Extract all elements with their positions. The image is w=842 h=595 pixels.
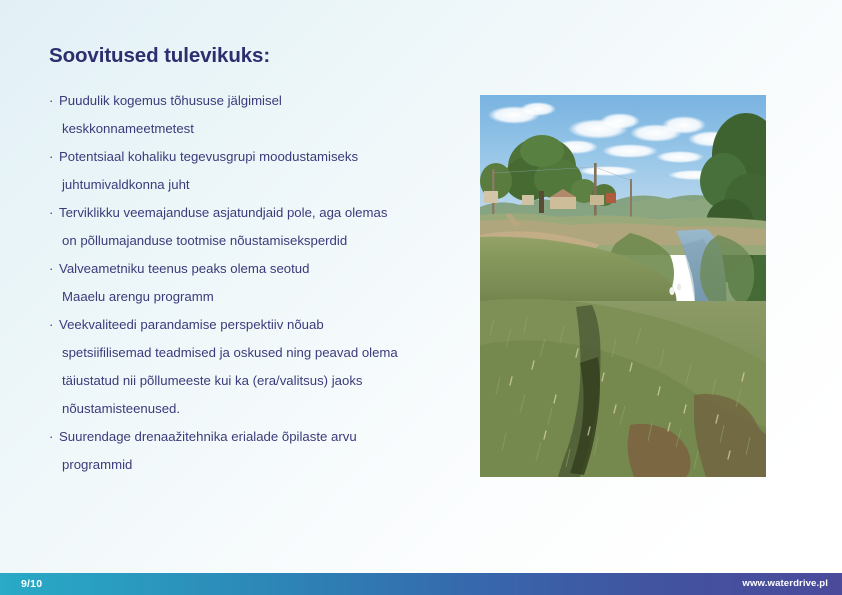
- bullet-marker-icon: ·: [49, 199, 59, 227]
- bullet-marker-icon: ·: [49, 423, 59, 451]
- list-item: · Veekvaliteedi parandamise perspektiiv …: [49, 311, 449, 339]
- list-item-label: keskkonnameetmetest: [59, 115, 449, 143]
- bullet-list: · Puudulik kogemus tõhususe jälgimisel k…: [49, 87, 449, 479]
- list-item: · Puudulik kogemus tõhususe jälgimisel: [49, 87, 449, 115]
- list-item: · Terviklikku veemajanduse asjatundjaid …: [49, 199, 449, 227]
- list-item-continuation: on põllumajanduse tootmise nõustamiseksp…: [49, 227, 449, 255]
- list-item-continuation: spetsiifilisemad teadmised ja oskused ni…: [49, 339, 449, 367]
- list-item-continuation: nõustamisteenused.: [49, 395, 449, 423]
- list-item-continuation: täiustatud nii põllumeeste kui ka (era/v…: [49, 367, 449, 395]
- footer-website-link[interactable]: www.waterdrive.pl: [742, 573, 828, 595]
- list-item-label: Terviklikku veemajanduse asjatundjaid po…: [59, 199, 449, 227]
- footer-bar: 9/10 www.waterdrive.pl: [0, 573, 842, 595]
- list-item-label: Valveametniku teenus peaks olema seotud: [59, 255, 449, 283]
- list-item-label: Maaelu arengu programm: [59, 283, 449, 311]
- bullet-marker-icon: ·: [49, 87, 59, 115]
- list-item-label: Veekvaliteedi parandamise perspektiiv nõ…: [59, 311, 449, 339]
- photo-canvas: [480, 95, 766, 477]
- list-item: · Valveametniku teenus peaks olema seotu…: [49, 255, 449, 283]
- list-item-label: on põllumajanduse tootmise nõustamiseksp…: [59, 227, 449, 255]
- bullet-marker-icon: ·: [49, 143, 59, 171]
- list-item-continuation: juhtumivaldkonna juht: [49, 171, 449, 199]
- list-item-continuation: keskkonnameetmetest: [49, 115, 449, 143]
- list-item-label: Potentsiaal kohaliku tegevusgrupi moodus…: [59, 143, 449, 171]
- list-item-label: spetsiifilisemad teadmised ja oskused ni…: [59, 339, 449, 367]
- list-item: · Suurendage drenaažitehnika erialade õp…: [49, 423, 449, 451]
- slide-number: 9/10: [21, 573, 42, 595]
- list-item-label: programmid: [59, 451, 449, 479]
- list-item-continuation: Maaelu arengu programm: [49, 283, 449, 311]
- list-item-label: juhtumivaldkonna juht: [59, 171, 449, 199]
- list-item: · Potentsiaal kohaliku tegevusgrupi mood…: [49, 143, 449, 171]
- list-item-label: Puudulik kogemus tõhususe jälgimisel: [59, 87, 449, 115]
- bullet-marker-icon: ·: [49, 255, 59, 283]
- list-item-continuation: programmid: [49, 451, 449, 479]
- bullet-marker-icon: ·: [49, 311, 59, 339]
- page-title: Soovitused tulevikuks:: [49, 44, 270, 68]
- river-landscape-photo: [480, 95, 766, 477]
- presentation-slide: Soovitused tulevikuks: · Puudulik kogemu…: [0, 0, 842, 595]
- list-item-label: täiustatud nii põllumeeste kui ka (era/v…: [59, 367, 449, 395]
- list-item-label: nõustamisteenused.: [59, 395, 449, 423]
- list-item-label: Suurendage drenaažitehnika erialade õpil…: [59, 423, 449, 451]
